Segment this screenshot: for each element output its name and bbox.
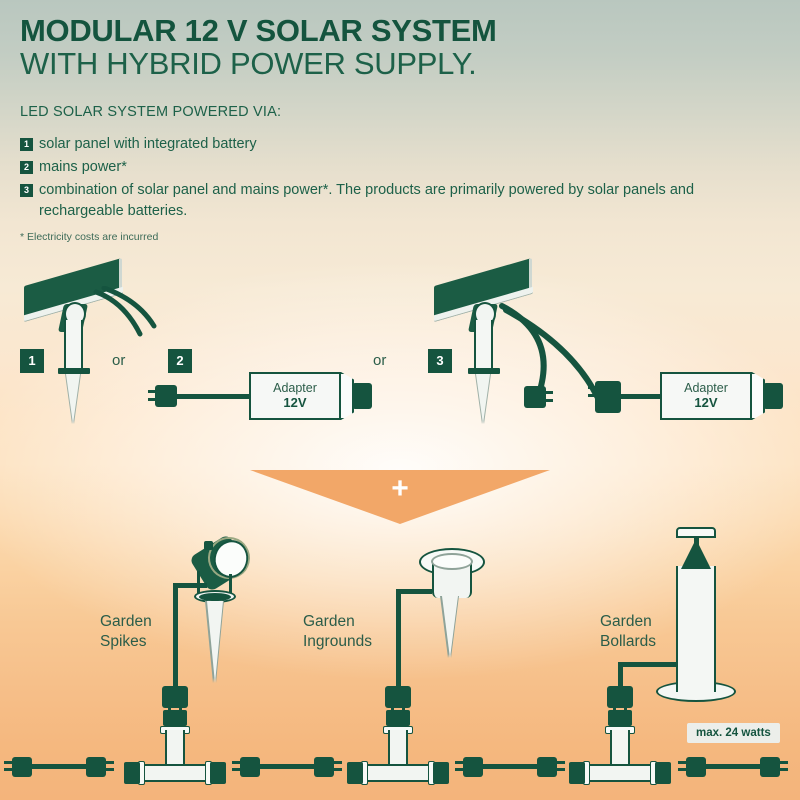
cable-segment (678, 752, 788, 782)
adapter-label-3: Adapter (684, 381, 728, 395)
loose-cables-icon (90, 286, 170, 356)
bullet-badge-1: 1 (20, 138, 33, 151)
ground-spike-icon (66, 374, 80, 424)
inground-feed-wire-vertical (396, 589, 401, 695)
cable-plug-icon (760, 757, 780, 777)
bollard-drop-plug-icon (607, 686, 633, 708)
cable-pin-icon (334, 768, 342, 771)
adapter-voltage-2: 12V (283, 395, 306, 411)
product-label-line-1: Garden (600, 612, 656, 632)
tee-end-left (569, 762, 585, 784)
tee-to-adapter-wire-3 (621, 394, 661, 399)
cable-pin-icon (106, 761, 114, 764)
cable-pin-icon (455, 768, 463, 771)
tee-main-pipe (363, 764, 433, 782)
cable-line (254, 764, 320, 769)
solar-plug-icon-3 (524, 386, 546, 408)
bullet-list: 1 solar panel with integrated battery 2 … (20, 134, 790, 222)
bullet-badge-2: 2 (20, 161, 33, 174)
adapter-label-2: Adapter (273, 381, 317, 395)
max-watts-badge: max. 24 watts (687, 723, 780, 743)
product-label-line-1: Garden (303, 612, 372, 632)
option-badge-1: 1 (20, 349, 44, 373)
cable-line (477, 764, 543, 769)
tee-end-left (347, 762, 363, 784)
plus-icon: + (391, 481, 409, 499)
cable-pin-icon (4, 761, 12, 764)
garden-spike-icon (207, 601, 223, 683)
inground-feed-wire-horizontal (396, 589, 432, 594)
list-item: 3 combination of solar panel and mains p… (20, 180, 790, 222)
tee-connector (355, 752, 441, 782)
cable-pin-icon (334, 761, 342, 764)
spike-feed-wire-horizontal (173, 583, 207, 588)
cable-pin-icon (780, 768, 788, 771)
cable-line (700, 764, 766, 769)
option-badge-2: 2 (168, 349, 192, 373)
list-item: 2 mains power* (20, 157, 790, 178)
cable-line (26, 764, 92, 769)
tee-branch-pipe (165, 730, 185, 766)
or-separator-2: or (373, 352, 386, 369)
cable-pin-icon (4, 768, 12, 771)
list-item: 1 solar panel with integrated battery (20, 134, 790, 155)
bullet-text-3: combination of solar panel and mains pow… (39, 180, 779, 222)
tee-branch-pipe (610, 730, 630, 766)
tee-branch-plug-icon (386, 710, 410, 726)
tee-end-right (210, 762, 226, 784)
tee-end-right (433, 762, 449, 784)
tee-branch-plug-icon (163, 710, 187, 726)
mains-wire-2 (177, 394, 249, 399)
bollard-reflector-icon (681, 539, 711, 569)
spike-drop-plug-icon (162, 686, 188, 708)
product-label-garden-spikes: Garden Spikes (100, 612, 152, 653)
bullet-badge-3: 3 (20, 184, 33, 197)
tee-main-pipe (140, 764, 210, 782)
cable-segment (4, 752, 114, 782)
product-label-garden-bollards: Garden Bollards (600, 612, 656, 653)
cable-plug-icon (314, 757, 334, 777)
tee-connector (132, 752, 218, 782)
bollard-feed-wire-horizontal (618, 662, 678, 667)
tee-branch-pipe (388, 730, 408, 766)
cable-pin-icon (678, 768, 686, 771)
or-separator-1: or (112, 352, 125, 369)
tee-end-right (655, 762, 671, 784)
page-title-line-1: MODULAR 12 V SOLAR SYSTEM (20, 14, 790, 47)
option-badge-3: 3 (428, 349, 452, 373)
adapter-voltage-3: 12V (694, 395, 717, 411)
cable-pin-icon (557, 768, 565, 771)
cable-pin-icon (232, 768, 240, 771)
bullet-text-1: solar panel with integrated battery (39, 134, 257, 155)
product-label-garden-ingrounds: Garden Ingrounds (303, 612, 372, 653)
solar-panel-stem (64, 320, 83, 370)
cable-plug-icon (537, 757, 557, 777)
solar-panel-stem (474, 320, 493, 370)
product-label-line-1: Garden (100, 612, 152, 632)
tee-branch-plug-icon (608, 710, 632, 726)
spike-feed-wire-vertical (173, 583, 178, 695)
ground-spike-icon (476, 374, 490, 424)
bullet-text-2: mains power* (39, 157, 127, 178)
adapter-output-socket-3 (763, 383, 783, 409)
inground-spike-icon (442, 596, 458, 658)
inground-lens-icon (431, 553, 473, 570)
tee-connector-icon-3 (595, 381, 621, 413)
cable-pin-icon (678, 761, 686, 764)
spotlight-base-fill (199, 593, 231, 601)
cable-bus (0, 752, 800, 800)
header-block: MODULAR 12 V SOLAR SYSTEM WITH HYBRID PO… (20, 14, 790, 243)
adapter-box-2: Adapter 12V (249, 372, 341, 420)
cable-pin-icon (780, 761, 788, 764)
cable-pin-icon (232, 761, 240, 764)
product-label-line-2: Bollards (600, 632, 656, 652)
tee-connector (577, 752, 663, 782)
footnote: * Electricity costs are incurred (20, 231, 790, 243)
adapter-output-socket-2 (352, 383, 372, 409)
tee-end-left (124, 762, 140, 784)
adapter-box-3: Adapter 12V (660, 372, 752, 420)
cable-plug-icon (86, 757, 106, 777)
cable-pin-icon (455, 761, 463, 764)
cable-pin-icon (557, 761, 565, 764)
cable-segment (455, 752, 565, 782)
cable-pin-icon (106, 768, 114, 771)
inground-drop-plug-icon (385, 686, 411, 708)
power-options-row: 1 or 2 Adapter 12V or 3 Adapter 12V (0, 268, 800, 438)
product-label-line-2: Ingrounds (303, 632, 372, 652)
intro-label: LED SOLAR SYSTEM POWERED VIA: (20, 104, 790, 120)
product-label-line-2: Spikes (100, 632, 152, 652)
tee-main-pipe (585, 764, 655, 782)
page-title-line-2: WITH HYBRID POWER SUPPLY. (20, 47, 790, 82)
mains-plug-icon-2 (155, 385, 177, 407)
cable-segment (232, 752, 342, 782)
bollard-shaft-lower (676, 668, 716, 690)
spotlight-knob-icon (204, 541, 213, 550)
